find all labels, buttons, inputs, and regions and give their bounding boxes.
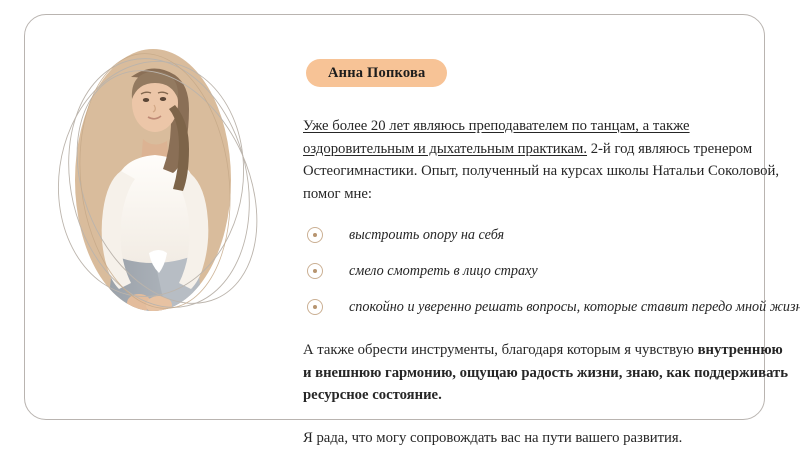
final-paragraph: Я рада, что могу сопровождать вас на пут… — [303, 427, 789, 449]
intro-paragraph: Уже более 20 лет являюсь преподавателем … — [303, 115, 789, 205]
profile-card: Анна Попкова Уже более 20 лет являюсь пр… — [24, 14, 765, 420]
portrait-figure — [51, 47, 271, 317]
benefits-list: выстроить опору на себя смело смотреть в… — [303, 225, 789, 317]
list-item-label: смело смотреть в лицо страху — [349, 262, 538, 280]
name-badge: Анна Попкова — [306, 59, 447, 87]
page-canvas: Анна Попкова Уже более 20 лет являюсь пр… — [0, 0, 800, 433]
list-item: выстроить опору на себя — [303, 225, 789, 245]
list-item: спокойно и уверенно решать вопросы, кото… — [303, 297, 789, 317]
list-item-label: выстроить опору на себя — [349, 226, 504, 244]
bio-content: Уже более 20 лет являюсь преподавателем … — [303, 115, 789, 449]
closing-paragraph: А также обрести инструменты, благодаря к… — [303, 339, 789, 407]
ring-dot-icon — [307, 263, 323, 279]
ring-dot-icon — [307, 299, 323, 315]
portrait-illustration — [51, 47, 271, 317]
closing-lead: А также обрести инструменты, благодаря к… — [303, 342, 698, 358]
list-item: смело смотреть в лицо страху — [303, 261, 789, 281]
list-item-label: спокойно и уверенно решать вопросы, кото… — [349, 298, 800, 316]
ring-dot-icon — [307, 227, 323, 243]
